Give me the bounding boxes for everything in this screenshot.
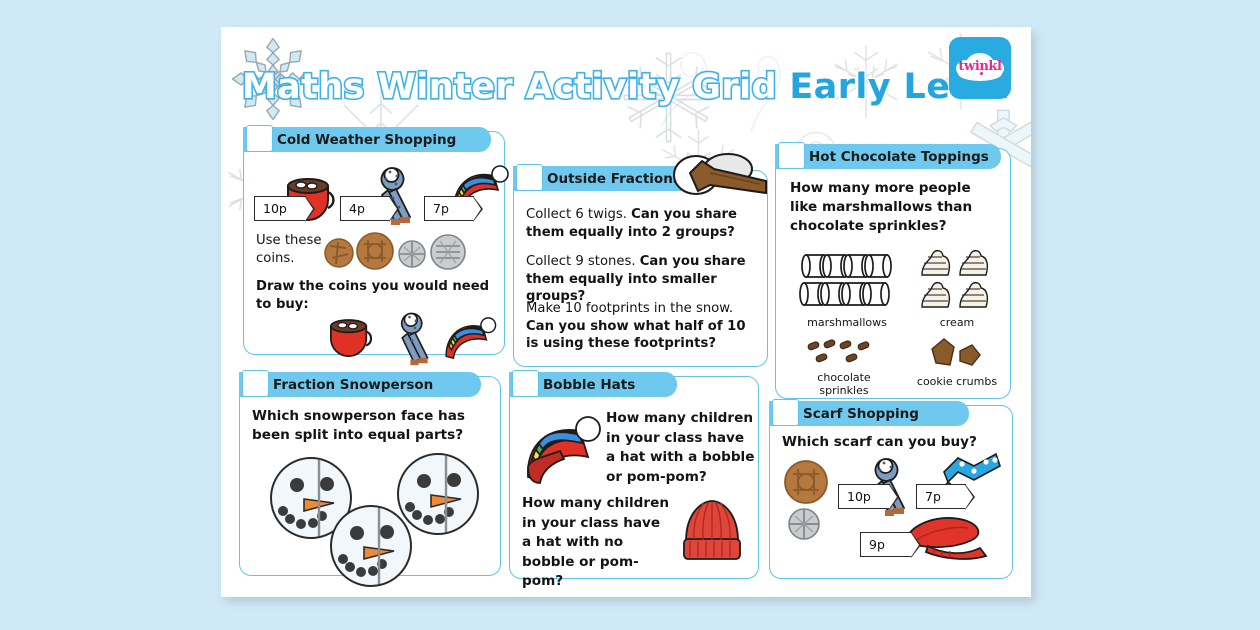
panel-title: Hot Chocolate Toppings [775,149,989,165]
coin-2p-icon [356,232,394,270]
checkbox-hot-chocolate-toppings[interactable] [778,142,805,169]
rainbow-bobble-hat-icon [522,415,606,487]
price-tag-label: 7p [433,201,449,216]
panel-fraction-snowperson: Which snowperson face has been split int… [239,376,501,576]
coin-5p-icon [398,240,426,268]
checkbox-bobble-hats[interactable] [512,370,539,397]
snowperson-face-3 [328,503,414,589]
cloud-icon: twinkl [955,53,1005,83]
fraction-snowperson-question: Which snowperson face has been split int… [252,407,497,445]
pictogram-label-marshmallows: marshmallows [792,316,902,329]
chocolate-sprinkles-icon [806,339,884,369]
marshmallows-icon [802,247,894,309]
panel-hot-chocolate-toppings: How many more people like marshmallows t… [775,148,1011,399]
price-tag: 9p [860,532,912,557]
panel-header-fraction-snowperson: Fraction Snowperson [239,372,481,397]
panel-scarf-shopping: Which scarf can you buy? 10p [769,405,1013,579]
checkbox-scarf-shopping[interactable] [772,399,799,426]
page-title: Maths Winter Activity Grid Early Level [221,67,1031,107]
scarf-icon [392,308,436,366]
price-tag: 7p [916,484,966,509]
worksheet-sheet: Maths Winter Activity Grid Early Level t… [221,27,1031,597]
coin-1p-icon [324,238,354,268]
price-tag-label: 4p [349,201,365,216]
bobble-hat-icon [440,316,498,360]
price-tag-label: 10p [263,201,287,216]
panel-header-scarf-shopping: Scarf Shopping [769,401,969,426]
price-tag: 7p [424,196,474,221]
bobble-hats-question-2: How many children in your class have a h… [522,494,670,592]
draw-coins-label: Draw the coins you would need to buy: [256,278,500,313]
price-tag-label: 7p [925,489,941,504]
hot-chocolate-mug-icon [322,312,384,358]
twig-and-stones-icon [666,147,776,205]
price-tag: 10p [838,484,890,509]
panel-header-hot-chocolate-toppings: Hot Chocolate Toppings [775,144,1001,169]
outside-fractions-line: Make 10 footprints in the snow. Can you … [526,300,762,353]
red-beanie-hat-icon [676,495,748,567]
price-tag: 4p [340,196,390,221]
outside-fractions-line: Collect 9 stones. Can you share them equ… [526,253,764,306]
price-tag-label: 9p [869,537,885,552]
bobble-hats-question-1: How many children in your class have a h… [606,409,756,487]
use-coins-label: Use these coins. [256,232,326,267]
panel-header-cold-weather-shopping: Cold Weather Shopping [243,127,491,152]
page-title-main: Maths Winter Activity Grid [242,67,777,107]
outside-fractions-line: Collect 6 twigs. Can you share them equa… [526,206,761,241]
twinkl-logo: twinkl [949,37,1011,99]
checkbox-fraction-snowperson[interactable] [242,370,269,397]
pictogram-label-cream: cream [916,316,998,329]
coin-10p-icon [430,234,466,270]
panel-cold-weather-shopping: 10p 4p [243,131,505,355]
pictogram-label-cookie-crumbs: cookie crumbs [908,375,1006,388]
price-tag-label: 10p [847,489,871,504]
logo-dot [980,72,983,75]
panel-bobble-hats: How many children in your class have a h… [509,376,759,579]
cream-icon [916,245,998,311]
pictogram-label-chocolate-sprinkles: chocolate sprinkles [792,371,896,397]
coin-2p-icon [784,460,828,504]
price-tag: 10p [254,196,306,221]
panel-title: Cold Weather Shopping [243,132,456,148]
checkbox-outside-fractions[interactable] [516,164,543,191]
hot-chocolate-question: How many more people like marshmallows t… [790,179,986,236]
cookie-crumbs-icon [928,337,984,371]
checkbox-cold-weather-shopping[interactable] [246,125,273,152]
coin-5p-icon [788,508,820,540]
